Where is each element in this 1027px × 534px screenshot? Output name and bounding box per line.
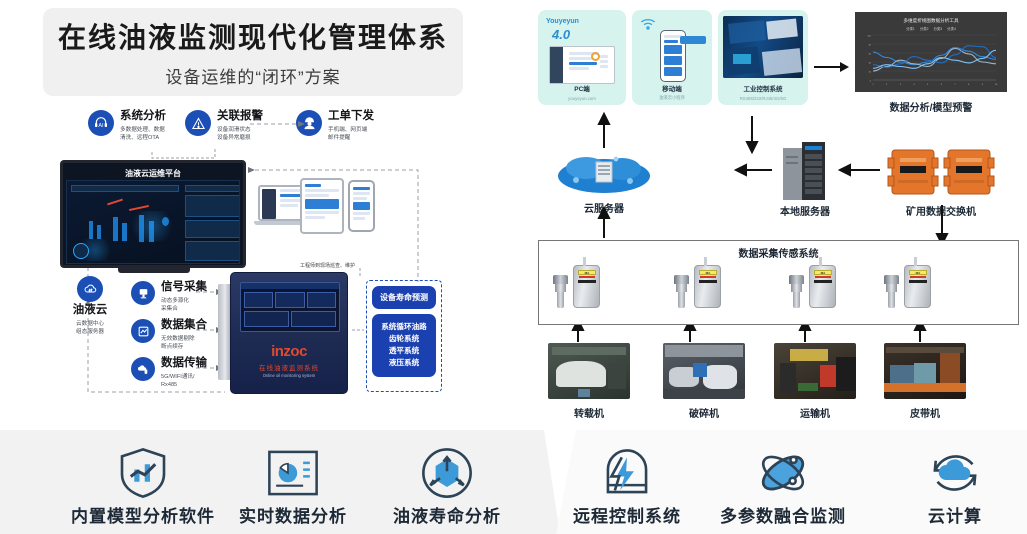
machine-photo (663, 343, 745, 399)
prediction-dashed-box: 设备寿命预测 系统循环油路 齿轮系统 透平系统 液压系统 (366, 280, 442, 392)
data-transfer-icon (131, 357, 155, 381)
feature-label: 关联报警 (217, 110, 263, 124)
svg-text:6: 6 (941, 84, 943, 86)
machine-label: 皮带机 (884, 405, 966, 420)
mining-switch-icon (888, 146, 994, 200)
oil-sensor-probe (789, 275, 804, 308)
bottom-feature-builtin-model[interactable]: 内置模型分析软件 (68, 444, 218, 527)
chart-title: 多维度折线图数据分析工具 (861, 18, 1001, 24)
svg-text:7: 7 (954, 84, 956, 86)
legend-item: 分类1 (906, 26, 915, 31)
terminal-subcaption: RS485/232/RJ45/4G/5G (718, 96, 808, 101)
bottom-feature-remote-control[interactable]: 远程控制系统 (552, 444, 702, 527)
sensor-system-box: 数据采集传感系统 MA MA MA MA (538, 240, 1019, 325)
svg-text:100: 100 (867, 36, 871, 38)
feature-work-order[interactable]: 工单下发 手机端、网页端 邮件提醒 (296, 110, 374, 142)
chart-caption: 数据分析/模型预警 (855, 99, 1007, 114)
feature-sublabel: 手机端、网页端 邮件提醒 (328, 126, 374, 142)
machine-card: 皮带机 (884, 343, 966, 420)
chart-legend: 分类1 分类2 分类3 分类4 (861, 26, 1001, 31)
monitor-screen (66, 180, 240, 264)
svg-text:8: 8 (968, 84, 970, 86)
atom-orbit-icon (708, 444, 858, 502)
svg-text:10: 10 (995, 84, 998, 86)
remote-bolt-icon (552, 444, 702, 502)
bottom-feature-strip: 内置模型分析软件 实时数据分析 (0, 430, 1027, 534)
chart-box-icon (218, 444, 368, 502)
svg-text:3: 3 (900, 84, 902, 86)
analysis-chart-panel: 多维度折线图数据分析工具 分类1 分类2 分类3 分类4 10080604020… (855, 12, 1007, 92)
sensor-pair: MA (884, 265, 931, 308)
smartphone-icon (348, 180, 375, 232)
legend-item: 分类4 (947, 26, 956, 31)
feature-data-transfer[interactable]: 数据传输 5G/WIFI通讯/ Rx485 (131, 357, 207, 389)
tower-server-icon (781, 142, 827, 202)
svg-text:40: 40 (869, 63, 872, 65)
legend-item: 分类2 (920, 26, 929, 31)
terminal-caption: 工业控制系统 (718, 83, 808, 93)
sensor-pair: MA (553, 265, 600, 308)
worker-icon (296, 110, 322, 136)
industrial-panel-icon (723, 16, 803, 78)
warning-triangle-icon (185, 110, 211, 136)
feature-sublabel: 云数据中心 组态服务器 (73, 320, 108, 336)
machine-photo (884, 343, 966, 399)
machine-card: 破碎机 (663, 343, 745, 420)
acquisition-module: MA (809, 265, 836, 308)
svg-text:0: 0 (870, 81, 872, 83)
device-screen (240, 282, 340, 332)
machine-photo (774, 343, 856, 399)
oil-sensor-probe (884, 275, 899, 308)
legend-item: 分类3 (934, 26, 943, 31)
feature-sublabel: 5G/WIFI通讯/ Rx485 (161, 373, 207, 389)
acquisition-module: MA (694, 265, 721, 308)
title-card: 在线油液监测现代化管理体系 设备运维的“闭环”方案 (43, 8, 463, 96)
terminal-subcaption: 油液云小程序 (632, 95, 712, 101)
bottom-feature-label: 实时数据分析 (218, 502, 368, 527)
monitor-title: 油液云运维平台 (66, 166, 240, 180)
acquisition-module: MA (904, 265, 931, 308)
bottom-feature-cloud-computing[interactable]: 云计算 (880, 444, 1027, 527)
terminal-subcaption: youyeyun.com (538, 96, 626, 101)
ai-headset-icon: AI (88, 110, 114, 136)
engineer-note: 工程师到现场巡查、维护 (300, 262, 355, 269)
machine-label: 破碎机 (663, 405, 745, 420)
terminal-card-pc[interactable]: Youyeyun 4.0 PC端 youyeyun.com (538, 10, 626, 105)
svg-text:1: 1 (872, 84, 874, 86)
svg-text:80: 80 (869, 45, 872, 47)
feature-label: 数据传输 (161, 357, 207, 371)
feature-label: 系统分析 (120, 110, 166, 124)
arrow-right-to-chart (814, 60, 850, 74)
machine-label: 运输机 (774, 405, 856, 420)
svg-text:20: 20 (869, 72, 872, 74)
feature-label: 工单下发 (328, 110, 374, 124)
feature-label: 信号采集 (161, 281, 207, 295)
terminal-card-mobile[interactable]: 移动端 油液云小程序 (632, 10, 712, 105)
feature-signal-collection[interactable]: 信号采集 动态多源化 采集合 (131, 281, 207, 313)
monitor-stand (118, 268, 190, 273)
tablet-icon (300, 178, 344, 234)
bottom-feature-label: 云计算 (880, 502, 1027, 527)
life-prediction-pill[interactable]: 设备寿命预测 (372, 286, 436, 309)
oil-sensor-probe (553, 275, 568, 308)
bottom-feature-label: 多参数融合监测 (708, 502, 858, 527)
brand-cn-name: 在线油液监测系统 (231, 362, 347, 372)
machine-photo (548, 343, 630, 399)
svg-text:5: 5 (927, 84, 929, 86)
feature-data-aggregation[interactable]: 数据集合 无效数据剔除 断点续存 (131, 319, 207, 351)
bottom-feature-oil-life[interactable]: 油液寿命分析 (372, 444, 522, 527)
feature-label: 数据集合 (161, 319, 207, 333)
svg-text:2: 2 (886, 84, 888, 86)
sensor-pair: MA (674, 265, 721, 308)
feature-alarm[interactable]: 关联报警 设备润滑状态 设备异常磨损 (185, 110, 263, 142)
version-text: 4.0 (552, 27, 570, 42)
bottom-feature-multiparam[interactable]: 多参数融合监测 (708, 444, 858, 527)
cloud-platform-monitor: 油液云运维平台 (60, 160, 246, 268)
terminal-card-industrial[interactable]: 工业控制系统 RS485/232/RJ45/4G/5G (718, 10, 808, 105)
chart-plot-area: 10080604020012345678910 (861, 33, 1001, 89)
systems-pill[interactable]: 系统循环油路 齿轮系统 透平系统 液压系统 (372, 314, 436, 377)
terminal-caption: PC端 (538, 83, 626, 93)
bottom-feature-label: 远程控制系统 (552, 502, 702, 527)
feature-sublabel: 动态多源化 采集合 (161, 297, 207, 313)
terminal-caption: 移动端 (632, 83, 712, 93)
machine-label: 转载机 (548, 405, 630, 420)
cloud-sync-icon (77, 276, 103, 302)
sensor-pair: MA (789, 265, 836, 308)
bottom-feature-realtime-analysis[interactable]: 实时数据分析 (218, 444, 368, 527)
infographic-root: 在线油液监测现代化管理体系 设备运维的“闭环”方案 AI 系统分析 多数据处理、… (0, 0, 1027, 534)
feature-label: 油液云 (73, 304, 108, 318)
bottom-feature-label: 内置模型分析软件 (68, 502, 218, 527)
svg-text:AI: AI (98, 123, 104, 129)
signal-collect-icon (131, 281, 155, 305)
node-label-cloud-server: 云服务器 (556, 200, 652, 215)
inzoc-device: inzoc 在线油液监测系统 Online oil monitoring sys… (230, 272, 348, 394)
machine-card: 转载机 (548, 343, 630, 420)
brand-logo: inzoc (231, 343, 347, 360)
node-label-mining-switch: 矿用数据交换机 (882, 203, 1000, 218)
feature-oil-cloud[interactable]: 油液云 云数据中心 组态服务器 (68, 276, 112, 336)
page-subtitle: 设备运维的“闭环”方案 (165, 63, 340, 88)
cube-arrows-icon (372, 444, 522, 502)
acquisition-module: MA (573, 265, 600, 308)
page-title: 在线油液监测现代化管理体系 (58, 16, 448, 56)
device-branding: inzoc 在线油液监测系统 Online oil monitoring sys… (231, 343, 347, 378)
svg-text:60: 60 (869, 54, 872, 56)
node-label-local-server: 本地服务器 (766, 203, 844, 218)
feature-sublabel: 设备润滑状态 设备异常磨损 (217, 126, 263, 142)
svg-text:4: 4 (913, 84, 915, 86)
wifi-icon (640, 18, 656, 30)
chart-line-icon (131, 319, 155, 343)
brand-en-name: Online oil monitoring system (231, 373, 347, 378)
shield-chart-icon (68, 444, 218, 502)
cloud-server-icon (556, 150, 652, 198)
sensor-system-title: 数据采集传感系统 (539, 241, 1018, 260)
laptop-icon (549, 46, 615, 84)
cloud-refresh-icon (880, 444, 1027, 502)
feature-system-analysis[interactable]: AI 系统分析 多数据处理、数据 清洗、远程OTA (88, 110, 166, 142)
feature-sublabel: 多数据处理、数据 清洗、远程OTA (120, 126, 166, 142)
brand-text: Youyeyun (546, 18, 579, 25)
svg-text:9: 9 (982, 84, 984, 86)
feature-sublabel: 无效数据剔除 断点续存 (161, 335, 207, 351)
machine-card: 运输机 (774, 343, 856, 420)
bottom-feature-label: 油液寿命分析 (372, 502, 522, 527)
oil-sensor-probe (674, 275, 689, 308)
